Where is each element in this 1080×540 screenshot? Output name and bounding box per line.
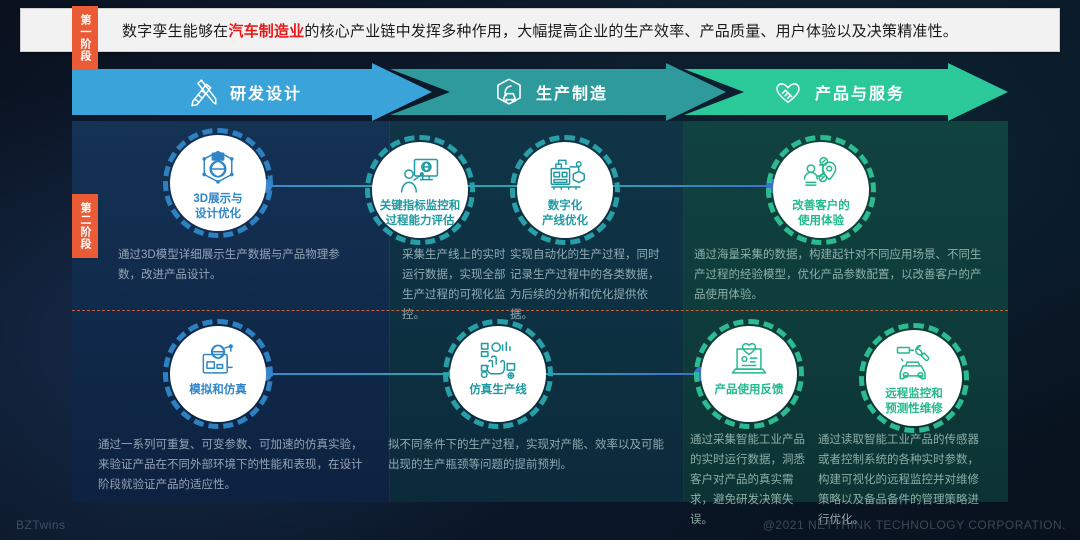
dashed-ring — [163, 319, 273, 429]
dashed-ring — [766, 135, 876, 245]
node-desc-simulation: 通过一系列可重复、可变参数、可加速的仿真实验，来验证产品在不同外部环境下的性能和… — [98, 435, 368, 495]
headline-highlight: 汽车制造业 — [228, 23, 304, 40]
stage-tag-one: 第一阶段 — [72, 6, 98, 70]
car-hexagon-icon — [492, 75, 526, 109]
node-circle-remote-maintenance[interactable]: 远程监控和 预测性维修 — [866, 330, 962, 426]
node-desc-3d-display: 通过3D模型详细展示生产数据与产品物理参数，改进产品设计。 — [118, 245, 358, 285]
node-circle-kpi-monitor[interactable]: 关键指标监控和 过程能力评估 — [372, 142, 468, 238]
node-circle-product-feedback[interactable]: 产品使用反馈 — [701, 326, 797, 422]
dashed-ring — [365, 135, 475, 245]
dashed-ring — [443, 319, 553, 429]
phase-arrow-manufacturing[interactable]: 生产制造 — [390, 63, 726, 121]
node-desc-digital-line: 实现自动化的生产过程，同时记录生产过程中的各类数据，为后续的分析和优化提供依据。 — [510, 245, 662, 325]
headline-banner: 数字孪生能够在汽车制造业的核心产业链中发挥多种作用，大幅提高企业的生产效率、产品… — [20, 8, 1060, 52]
headline-text: 数字孪生能够在汽车制造业的核心产业链中发挥多种作用，大幅提高企业的生产效率、产品… — [122, 20, 958, 41]
node-desc-simulated-line: 拟不同条件下的生产过程，实现对产能、效率以及可能出现的生产瓶颈等问题的提前预判。 — [388, 435, 668, 475]
connector-rail-4 — [265, 373, 455, 375]
node-desc-remote-maintenance: 通过读取智能工业产品的传感器或者控制系统的各种实时参数，构建可视化的远程监控并对… — [818, 430, 990, 530]
headline-pre: 数字孪生能够在 — [122, 23, 228, 40]
phase-arrow-product-service[interactable]: 产品与服务 — [684, 63, 1008, 121]
stage-tag-two: 第二阶段 — [72, 194, 98, 258]
node-circle-3d-display[interactable]: 3D 3D展示与 设计优化 — [170, 135, 266, 231]
dashed-ring — [694, 319, 804, 429]
node-desc-product-feedback: 通过采集智能工业产品的实时运行数据，洞悉客户对产品的真实需求，避免研发决策失误。 — [690, 430, 816, 530]
node-circle-simulated-line[interactable]: 仿真生产线 — [450, 326, 546, 422]
phase-arrow-bar: 研发设计 生产制造 — [72, 63, 1008, 121]
phase-arrow-research[interactable]: 研发设计 — [72, 63, 432, 121]
phase-label: 研发设计 — [230, 80, 302, 104]
node-desc-kpi-monitor: 采集生产线上的实时运行数据，实现全部生产过程的可视化监控。 — [402, 245, 508, 325]
handshake-heart-icon — [771, 75, 805, 109]
dashed-ring — [859, 323, 969, 433]
headline-post: 的核心产业链中发挥多种作用，大幅提高企业的生产效率、产品质量、用户体验以及决策精… — [304, 23, 958, 40]
stage-divider — [72, 310, 1008, 311]
phase-label: 产品与服务 — [815, 80, 905, 104]
dashed-ring — [163, 128, 273, 238]
slide-canvas: 数字孪生能够在汽车制造业的核心产业链中发挥多种作用，大幅提高企业的生产效率、产品… — [0, 0, 1080, 540]
compass-ruler-icon — [186, 75, 220, 109]
node-circle-digital-line[interactable]: 数字化 产线优化 — [517, 142, 613, 238]
dashed-ring — [510, 135, 620, 245]
node-desc-customer-experience: 通过海量采集的数据，构建起针对不同应用场景、不同生产过程的经验模型，优化产品参数… — [694, 245, 990, 305]
node-circle-simulation[interactable]: 模拟和仿真 — [170, 326, 266, 422]
footer-brand: BZTwins — [16, 518, 66, 532]
phase-label: 生产制造 — [536, 80, 608, 104]
node-circle-customer-experience[interactable]: 改善客户的 使用体验 — [773, 142, 869, 238]
connector-rail-3 — [593, 185, 773, 187]
